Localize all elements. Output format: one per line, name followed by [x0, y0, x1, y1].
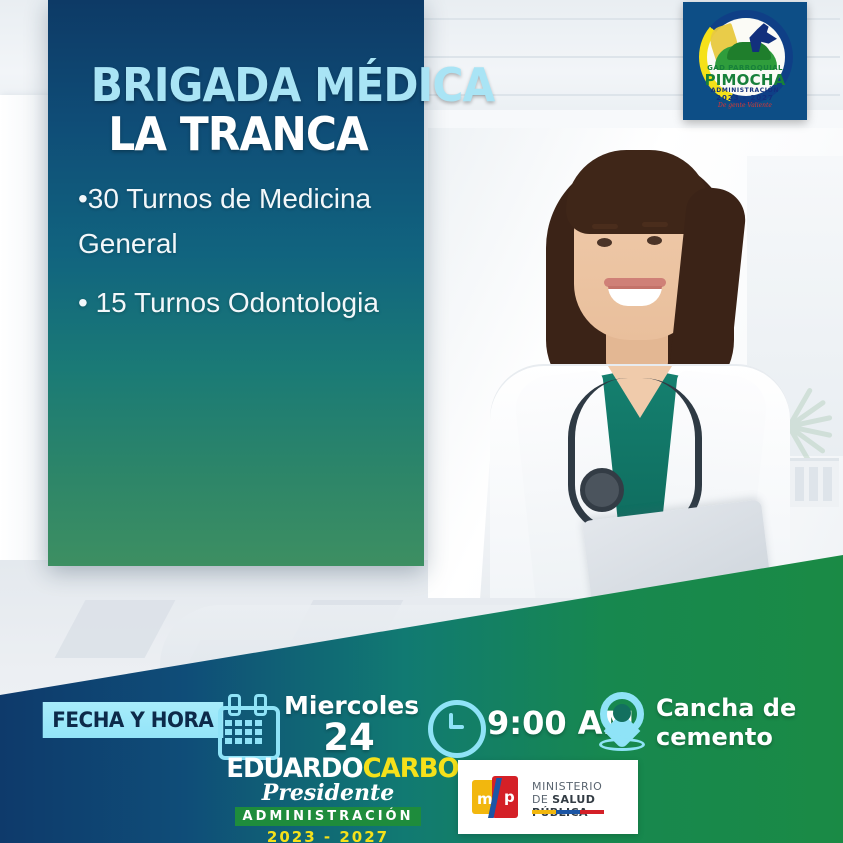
list-item: •30 Turnos de Medicina General: [78, 176, 398, 266]
event-info-row: FECHA Y HORA Miercoles 24 9:00 AM: [0, 692, 843, 760]
eye-right: [647, 236, 662, 245]
calendar-icon: [216, 694, 274, 752]
logo-line4: 2023 - 2027: [683, 94, 807, 102]
official-signature: EDUARDOCARBO Presidente ADMINISTRACIÓN 2…: [222, 755, 434, 843]
day-number: 24: [284, 719, 414, 756]
msp-flag-bars: [532, 810, 604, 814]
official-role: Presidente: [222, 781, 434, 805]
eyebrow-right: [642, 222, 668, 227]
event-location: Cancha de cemento: [656, 694, 836, 752]
day-name: Miercoles: [284, 692, 414, 719]
msp-line2-light: DE: [532, 793, 552, 806]
doctor-photo: [428, 128, 843, 598]
msp-letter-m: m: [477, 792, 493, 807]
eye-left: [597, 238, 612, 247]
stethoscope-bell: [580, 468, 624, 512]
msp-mark-icon: m p: [472, 776, 522, 818]
administration-label: ADMINISTRACIÓN: [235, 807, 422, 826]
official-first-name: EDUARDO: [226, 753, 362, 784]
eyebrow-left: [592, 224, 618, 229]
event-date: Miercoles 24: [284, 692, 414, 756]
services-list: •30 Turnos de Medicina General • 15 Turn…: [78, 176, 398, 325]
hill-icon: [727, 42, 771, 60]
list-item: • 15 Turnos Odontologia: [78, 280, 398, 325]
location-pin-icon: [600, 692, 644, 754]
administration-years: 2023 - 2027: [222, 828, 434, 843]
msp-logo: m p MINISTERIO DE SALUD PÚBLICA: [458, 760, 638, 834]
gad-pimocha-logo: GAD PARROQUIAL PIMOCHA ADMINISTRACIÓN 20…: [683, 2, 807, 120]
status-badge: FECHA Y HORA: [43, 702, 223, 738]
msp-line2: DE SALUD PÚBLICA: [532, 793, 638, 819]
official-name: EDUARDOCARBO: [226, 755, 430, 783]
doctor-figure: [428, 128, 843, 598]
msp-line1: MINISTERIO: [532, 780, 638, 793]
info-card: BRIGADA MÉDICA LA TRANCA •30 Turnos de M…: [48, 0, 424, 566]
logo-slogan: De gente Valiente: [683, 102, 807, 109]
page-title-line2: LA TRANCA: [91, 108, 385, 160]
official-last-name: CARBO: [363, 753, 459, 784]
logo-line3: ADMINISTRACIÓN: [683, 87, 807, 94]
page-title-line1: BRIGADA MÉDICA: [91, 62, 385, 108]
clock-icon: [428, 700, 486, 758]
poster-canvas: BRIGADA MÉDICA LA TRANCA •30 Turnos de M…: [0, 0, 843, 843]
msp-letter-p: p: [504, 790, 515, 805]
